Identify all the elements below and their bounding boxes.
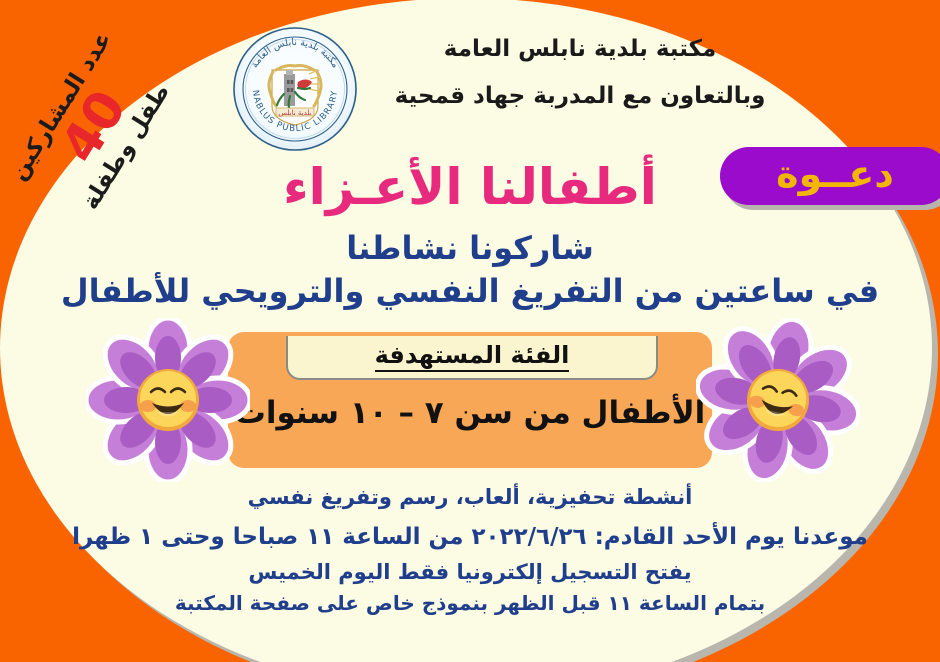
- library-seal-icon: بلدية نابلس مكتبة بلدية نابلس العامة NAB…: [232, 26, 358, 152]
- smiling-flower-icon-right: [696, 318, 860, 482]
- header-line-1: مكتبة بلدية نابلس العامة: [370, 38, 790, 61]
- target-audience-box: الفئة المستهدفة الأطفال من سن ٧ – ١٠ سنو…: [228, 332, 712, 468]
- registration-line: يفتح التسجيل إلكترونيا فقط اليوم الخميس: [0, 561, 940, 584]
- target-audience-age: الأطفال من سن ٧ – ١٠ سنوات: [228, 396, 712, 430]
- poster-content: عدد المشاركين 40 طفل وطفلة: [0, 0, 940, 662]
- date-time-line: موعدنا يوم الأحد القادم: ٢٠٢٢/٦/٢٦ من ال…: [0, 525, 940, 550]
- poster-subtitle-1: شاركونا نشاطنا: [0, 231, 940, 266]
- target-audience-heading-box: الفئة المستهدفة: [286, 336, 658, 380]
- header-text-block: مكتبة بلدية نابلس العامة وبالتعاون مع ال…: [370, 38, 790, 132]
- registration-form-line: بتمام الساعة ١١ قبل الظهر بنموذج خاص على…: [0, 593, 940, 615]
- poster-canvas: عدد المشاركين 40 طفل وطفلة: [0, 0, 940, 662]
- target-audience-heading: الفئة المستهدفة: [375, 342, 570, 371]
- poster-subtitle-2: في ساعتين من التفريغ النفسي والترويحي لل…: [0, 274, 940, 309]
- bottom-info-block: أنشطة تحفيزية، ألعاب، رسم وتفريغ نفسي مو…: [0, 486, 940, 615]
- smiling-flower-icon-left: [86, 318, 250, 482]
- activities-line: أنشطة تحفيزية، ألعاب، رسم وتفريغ نفسي: [0, 486, 940, 509]
- header-line-2: وبالتعاون مع المدربة جهاد قمحية: [370, 85, 790, 108]
- poster-title: أطفالنا الأعـزاء: [0, 160, 940, 215]
- svg-text:بلدية نابلس: بلدية نابلس: [278, 109, 311, 117]
